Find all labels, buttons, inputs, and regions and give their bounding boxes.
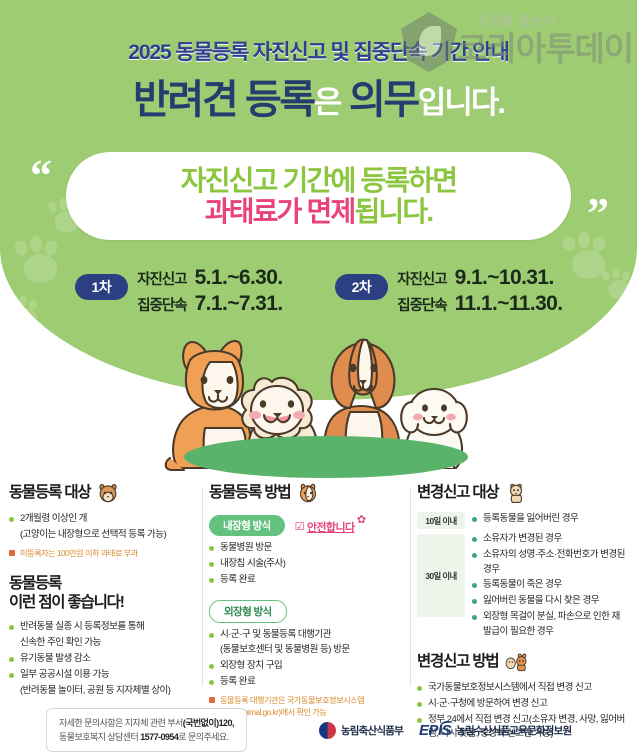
page-title: 반려견 등록은 의무입니다. <box>0 79 637 122</box>
period-label: 집중단속 <box>137 294 186 315</box>
four-dogs-illustration <box>150 318 500 483</box>
footer: 자세한 문의사항은 지자체 관련 부서(국번없이)120, 동물보호복지 상담센… <box>0 706 637 754</box>
list-item: 등록 완료 <box>209 573 399 588</box>
period-badge: 2차 <box>335 274 389 300</box>
period-row: 자진신고 9.1.~10.31. <box>397 266 562 290</box>
list-item: 일부 공공시설 이용 가능 <box>9 668 191 683</box>
safe-label: 안전합니다 <box>307 519 355 535</box>
quote-close-mark: ” <box>587 192 609 236</box>
external-method-list: 시·군·구 및 동물등록 대행기관 (동물보호센터 및 동물병원 등) 방문 외… <box>209 628 399 690</box>
logo-label: 농림축산식품부 <box>341 723 403 738</box>
period-group-2: 2차 자진신고 9.1.~10.31. 집중단속 11.1.~11.30. <box>335 266 563 316</box>
headline-part-1: 반려견 등록 <box>133 78 314 122</box>
quote-bubble: 자진신고 기간에 등록하면 과태료가 면제됩니다. <box>66 152 571 240</box>
period-row: 집중단속 11.1.~11.30. <box>397 292 562 316</box>
check-icon: ☑ <box>295 520 304 533</box>
internal-method-header: 내장형 방식 ☑ 안전합니다 ✿ <box>209 512 399 541</box>
dog-face-icon <box>96 482 120 504</box>
timing-label-10: 10일 이내 <box>417 512 465 529</box>
list-item: 내장칩 시술(주사) <box>209 557 399 572</box>
quote-block: “ ” 자진신고 기간에 등록하면 과태료가 면제됩니다. <box>0 146 637 244</box>
section-title-method: 동물등록 방법 <box>209 482 399 504</box>
external-method-pill: 외장형 방식 <box>209 600 287 623</box>
quote-open-mark: “ <box>30 154 52 198</box>
note-line-1: 동물등록 대행기관은 국가동물보호정보시스템 <box>220 696 364 705</box>
taegeuk-icon <box>319 722 336 739</box>
list-item: (동물보호센터 및 동물병원 등) 방문 <box>209 643 399 658</box>
list-item: 등록동물이 죽은 경우 <box>472 578 628 593</box>
period-label: 자진신고 <box>397 268 446 289</box>
headline-part-3: 의무 <box>349 78 418 122</box>
timing-label-30: 30일 이내 <box>417 534 465 617</box>
column-registration-method: 동물등록 방법 내장형 방식 ☑ <box>200 482 408 700</box>
section-title-text: 동물등록 방법 <box>209 484 290 503</box>
internal-method-pill: 내장형 방식 <box>209 515 285 536</box>
period-badge: 1차 <box>75 274 129 300</box>
period-list: 1차 자진신고 5.1.~6.30. 집중단속 7.1.~7.31. 2차 자진… <box>0 266 637 316</box>
info-columns: 동물등록 대상 2개월령 이상인 개 (고양이는 내장형으로 선택적 등록 가 <box>0 482 637 700</box>
target-note: 미등록자는 100만원 이하 과태료 부과 <box>9 548 191 559</box>
section-title-text: 동물등록 이런 점이 좋습니다! <box>9 575 124 612</box>
within30-list: 소유자가 변경된 경우 소유자의 성명·주소·전화번호가 변경된 경우 등록동물… <box>472 532 628 640</box>
quote-line-2-tail: 됩니다. <box>354 196 432 227</box>
sitting-dog-icon <box>504 482 528 504</box>
period-row: 집중단속 7.1.~7.31. <box>137 292 282 316</box>
period-label: 집중단속 <box>397 294 446 315</box>
list-item: 등록동물을 잃어버린 경우 <box>472 512 628 527</box>
poster-subtitle: 2025 동물등록 자진신고 및 집중단속 기간 안내 <box>0 36 637 66</box>
contact-line-1a: 자세한 문의사항은 지자체 관련 부서 <box>59 718 183 728</box>
logo-mafra: 농림축산식품부 <box>319 722 403 739</box>
contact-line-1b: (국번없이)120, <box>183 718 234 728</box>
quote-line-1: 자진신고 기간에 등록하면 <box>181 165 457 196</box>
logo-label: 농림수산식품교육문화정보원 <box>456 723 571 738</box>
section-title-text: 변경신고 대상 <box>417 484 498 503</box>
period-value: 11.1.~11.30. <box>455 292 563 316</box>
period-group-1: 1차 자진신고 5.1.~6.30. 집중단속 7.1.~7.31. <box>75 266 283 316</box>
period-label: 자진신고 <box>137 268 186 289</box>
benefits-list: 반려동물 실종 시 등록정보를 통해 신속한 주인 확인 가능 유기동물 발생 … <box>9 620 191 698</box>
list-item: 국가동물보호정보시스템에서 직접 변경 신고 <box>417 681 628 696</box>
period-value: 5.1.~6.30. <box>195 266 283 290</box>
period-row: 자진신고 5.1.~6.30. <box>137 266 282 290</box>
star-icon: ✿ <box>357 513 366 526</box>
list-item: 반려동물 실종 시 등록정보를 통해 <box>9 620 191 635</box>
list-item: 신속한 주인 확인 가능 <box>9 636 191 651</box>
quote-line-2-emphasis: 과태료가 면제 <box>205 196 355 227</box>
external-method-header: 외장형 방식 <box>209 597 399 628</box>
contact-line-2b: 1577-0954 <box>140 732 178 742</box>
contact-box: 자세한 문의사항은 지자체 관련 부서(국번없이)120, 동물보호복지 상담센… <box>46 708 247 753</box>
within10-list: 등록동물을 잃어버린 경우 <box>472 512 628 527</box>
corgi-icon <box>296 482 320 504</box>
headline-part-4: 입니다. <box>418 85 504 120</box>
list-item: (고양이는 내장형으로 선택적 등록 가능) <box>9 528 191 543</box>
period-value: 7.1.~7.31. <box>195 292 283 316</box>
list-item: 등록 완료 <box>209 675 399 690</box>
list-item: 외장형 목걸이 분실, 파손으로 인한 재발급이 필요한 경우 <box>472 610 628 640</box>
section-title-benefits: 동물등록 이런 점이 좋습니다! <box>9 575 191 612</box>
period-value: 9.1.~10.31. <box>455 266 554 290</box>
logo-epis: EPIS 농림수산식품교육문화정보원 <box>419 722 571 739</box>
list-item: 소유자가 변경된 경우 <box>472 532 628 547</box>
list-item: 소유자의 성명·주소·전화번호가 변경된 경우 <box>472 548 628 578</box>
list-item: (반려동물 놀이터, 공원 등 지자체별 상이) <box>9 684 191 699</box>
quote-line-2: 과태료가 면제됩니다. <box>205 196 433 227</box>
section-title-text: 동물등록 대상 <box>9 484 90 503</box>
section-title-change-method: 변경신고 방법 <box>417 651 628 673</box>
poster-root: 사람을 듣는다 코리아투데이 2025 동물등록 자진신고 및 집중단속 기간 … <box>0 0 637 754</box>
ground-ellipse <box>184 436 468 478</box>
column-registration-target: 동물등록 대상 2개월령 이상인 개 (고양이는 내장형으로 선택적 등록 가 <box>0 482 200 700</box>
section-title-target: 동물등록 대상 <box>9 482 191 504</box>
internal-method-list: 동물병원 방문 내장칩 시술(주사) 등록 완료 <box>209 541 399 588</box>
safe-badge: ☑ 안전합니다 ✿ <box>295 519 355 535</box>
target-list: 2개월령 이상인 개 (고양이는 내장형으로 선택적 등록 가능) <box>9 512 191 543</box>
epis-wordmark: EPIS <box>419 722 451 739</box>
list-item: 시·군·구 및 동물등록 대행기관 <box>209 628 399 643</box>
change-target-items: 등록동물을 잃어버린 경우 소유자가 변경된 경우 소유자의 성명·주소·전화번… <box>472 512 628 641</box>
column-change-report: 변경신고 대상 10일 이내 30일 이내 <box>408 482 637 700</box>
change-target-grid: 10일 이내 30일 이내 등록동물을 잃어버린 경우 소유자가 변경된 경우 … <box>417 512 628 641</box>
list-item: 잃어버린 동물을 다시 찾은 경우 <box>472 594 628 609</box>
list-item: 유기동물 발생 감소 <box>9 652 191 667</box>
list-item: 2개월령 이상인 개 <box>9 512 191 527</box>
contact-line-2c: 로 문의주세요. <box>178 732 228 742</box>
two-dogs-icon <box>504 651 528 673</box>
section-title-change-target: 변경신고 대상 <box>417 482 628 504</box>
logo-row: 농림축산식품부 EPIS 농림수산식품교육문화정보원 <box>319 722 571 739</box>
headline-part-2: 은 <box>314 85 341 120</box>
contact-line-2a: 동물보호복지 상담센터 <box>59 732 140 742</box>
list-item: 외장형 장치 구입 <box>209 659 399 674</box>
list-item: 동물병원 방문 <box>209 541 399 556</box>
change-target-timing-column: 10일 이내 30일 이내 <box>417 512 465 641</box>
section-title-text: 변경신고 방법 <box>417 653 498 672</box>
